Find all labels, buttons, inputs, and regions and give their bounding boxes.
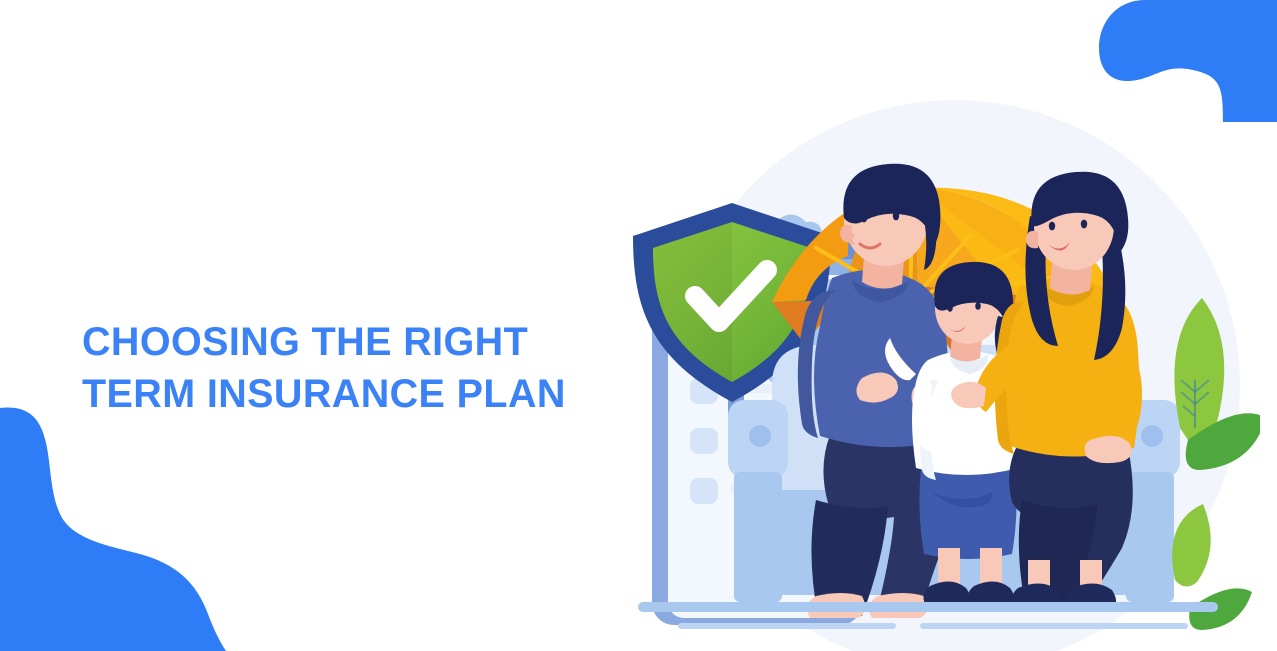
family-insurance-illustration xyxy=(620,40,1260,651)
insurance-hero-banner: CHOOSING THE RIGHT TERM INSURANCE PLAN xyxy=(0,0,1277,651)
page-title: CHOOSING THE RIGHT TERM INSURANCE PLAN xyxy=(82,316,602,420)
blue-blob-bottom-left xyxy=(0,396,240,651)
page-title-line-1: CHOOSING THE RIGHT xyxy=(82,316,602,368)
page-title-line-2: TERM INSURANCE PLAN xyxy=(82,368,602,420)
